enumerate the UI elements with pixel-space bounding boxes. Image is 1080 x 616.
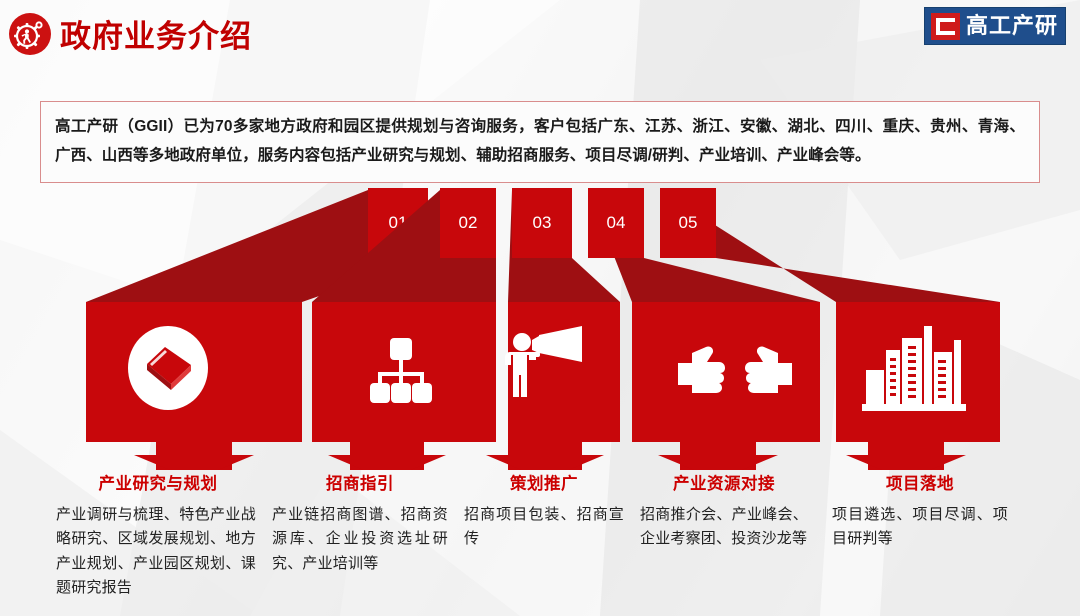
caption-body-2: 产业链招商图谱、招商资源库、企业投资选址研究、产业培训等: [272, 503, 448, 576]
caption-title-2: 招商指引: [272, 470, 448, 494]
step-number-5: 05: [679, 213, 698, 232]
caption-body-4: 招商推介会、产业峰会、企业考察团、投资沙龙等: [640, 503, 808, 552]
caption-column-1: 产业研究与规划 产业调研与梳理、特色产业战略研究、区域发展规划、地方产业规划、产…: [56, 470, 256, 600]
intro-callout-box: 高工产研（GGII）已为70多家地方政府和园区提供规划与咨询服务，客户包括广东、…: [40, 101, 1040, 183]
caption-body-1: 产业调研与梳理、特色产业战略研究、区域发展规划、地方产业规划、产业园区规划、课题…: [56, 503, 256, 600]
page-title: 政府业务介绍: [60, 11, 252, 56]
gear-runner-icon: [8, 12, 52, 56]
caption-column-3: 策划推广 招商项目包装、招商宣传: [464, 470, 624, 552]
step-number-3: 03: [533, 213, 552, 232]
caption-row: 产业研究与规划 产业调研与梳理、特色产业战略研究、区域发展规划、地方产业规划、产…: [0, 470, 1080, 616]
logo-g-mark: [931, 13, 960, 40]
caption-body-3: 招商项目包装、招商宣传: [464, 503, 624, 552]
company-logo: 高工产研: [924, 7, 1066, 45]
caption-title-4: 产业资源对接: [640, 470, 808, 494]
caption-title-3: 策划推广: [464, 470, 624, 494]
caption-title-1: 产业研究与规划: [56, 470, 256, 494]
logo-text: 高工产研: [966, 15, 1058, 37]
slide-root: 政府业务介绍 高工产研 高工产研（GGII）已为70多家地方政府和园区提供规划与…: [0, 0, 1080, 616]
caption-column-2: 招商指引 产业链招商图谱、招商资源库、企业投资选址研究、产业培训等: [272, 470, 448, 576]
step-number-2: 02: [459, 213, 478, 232]
funnel-diagram: 01 02: [0, 180, 1080, 470]
caption-column-4: 产业资源对接 招商推介会、产业峰会、企业考察团、投资沙龙等: [640, 470, 808, 552]
caption-column-5: 项目落地 项目遴选、项目尽调、项目研判等: [832, 470, 1008, 552]
step-number-4: 04: [607, 213, 626, 232]
book-icon: [128, 326, 208, 410]
page-header: 政府业务介绍 高工产研: [0, 0, 1080, 68]
caption-title-5: 项目落地: [832, 470, 1008, 494]
intro-text: 高工产研（GGII）已为70多家地方政府和园区提供规划与咨询服务，客户包括广东、…: [55, 113, 1025, 170]
caption-body-5: 项目遴选、项目尽调、项目研判等: [832, 503, 1008, 552]
